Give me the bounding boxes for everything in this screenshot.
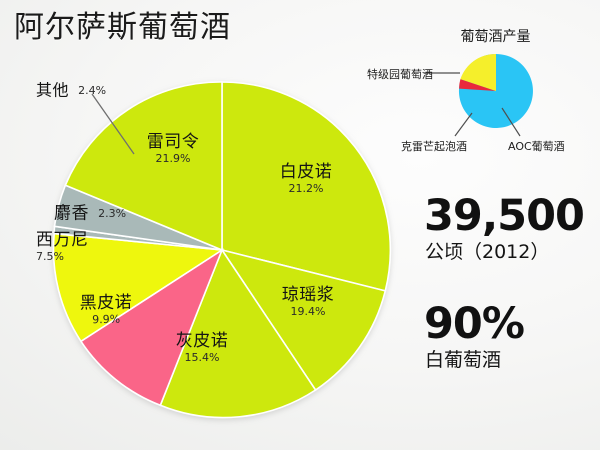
infographic-root: 阿尔萨斯葡萄酒 xyxy=(0,0,600,450)
page-title: 阿尔萨斯葡萄酒 xyxy=(14,9,231,47)
stat-vineyard-area-unit: 公顷（2012） xyxy=(425,240,549,264)
stat-white-wine-value: 90% xyxy=(424,300,524,348)
mini-pie-label-cremant: 克雷芒起泡酒 xyxy=(401,140,467,154)
wine-production-title: 葡萄酒产量 xyxy=(413,28,578,46)
mini-pie-label-grand-cru: 特级园葡萄酒 xyxy=(367,68,433,82)
stat-vineyard-area-value: 39,500 xyxy=(424,192,584,240)
mini-pie-label-aoc: AOC葡萄酒 xyxy=(508,140,565,154)
other-leader-line xyxy=(90,92,150,162)
stat-white-wine-label: 白葡萄酒 xyxy=(425,348,501,372)
mini-pie-leader-lines xyxy=(360,50,560,150)
